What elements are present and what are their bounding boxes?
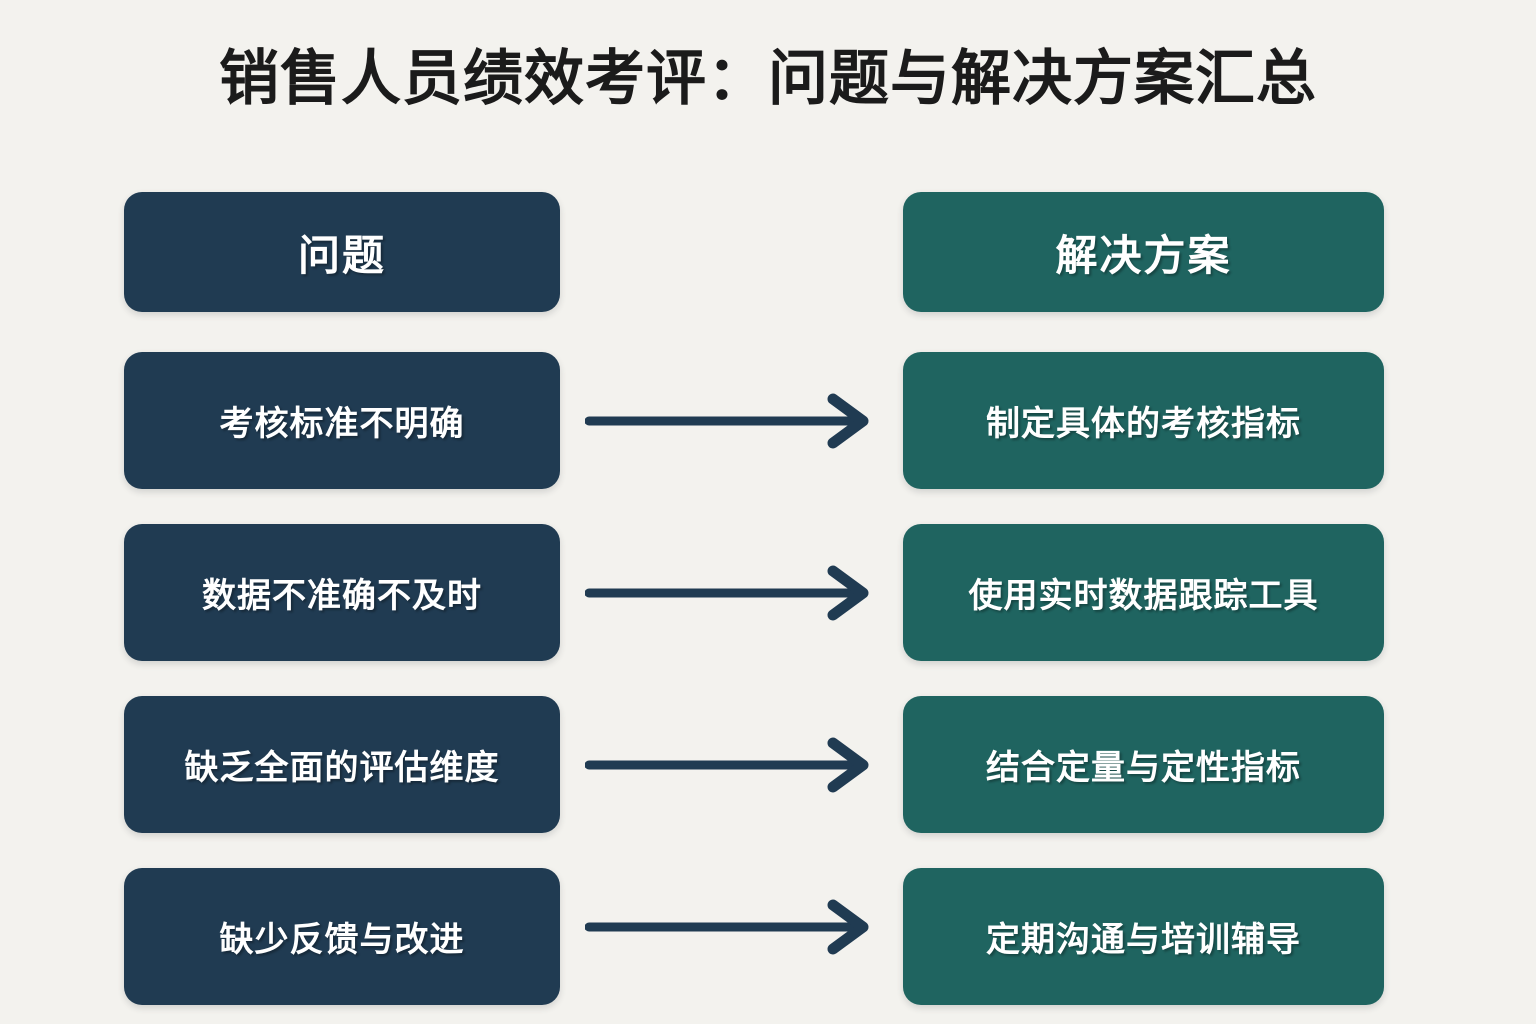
problem-item-2[interactable]: 数据不准确不及时 bbox=[124, 524, 560, 661]
arrow-right-icon-2 bbox=[585, 563, 875, 623]
problems-column: 问题 考核标准不明确 数据不准确不及时 缺乏全面的评估维度 缺少反馈与改进 bbox=[124, 192, 560, 1005]
solution-item-3[interactable]: 结合定量与定性指标 bbox=[903, 696, 1384, 833]
problem-item-3[interactable]: 缺乏全面的评估维度 bbox=[124, 696, 560, 833]
arrow-right-icon-3 bbox=[585, 735, 875, 795]
solutions-column-header: 解决方案 bbox=[903, 192, 1384, 312]
solution-item-1[interactable]: 制定具体的考核指标 bbox=[903, 352, 1384, 489]
arrow-right-icon-4 bbox=[585, 897, 875, 957]
problems-column-header: 问题 bbox=[124, 192, 560, 312]
problem-item-4[interactable]: 缺少反馈与改进 bbox=[124, 868, 560, 1005]
problem-item-1[interactable]: 考核标准不明确 bbox=[124, 352, 560, 489]
solution-item-2[interactable]: 使用实时数据跟踪工具 bbox=[903, 524, 1384, 661]
solution-item-4[interactable]: 定期沟通与培训辅导 bbox=[903, 868, 1384, 1005]
arrow-right-icon-1 bbox=[585, 391, 875, 451]
solutions-column: 解决方案 制定具体的考核指标 使用实时数据跟踪工具 结合定量与定性指标 定期沟通… bbox=[903, 192, 1384, 1005]
page-title: 销售人员绩效考评：问题与解决方案汇总 bbox=[0, 46, 1536, 112]
infographic-canvas: 销售人员绩效考评：问题与解决方案汇总 问题 考核标准不明确 数据不准确不及时 缺… bbox=[0, 0, 1536, 1024]
